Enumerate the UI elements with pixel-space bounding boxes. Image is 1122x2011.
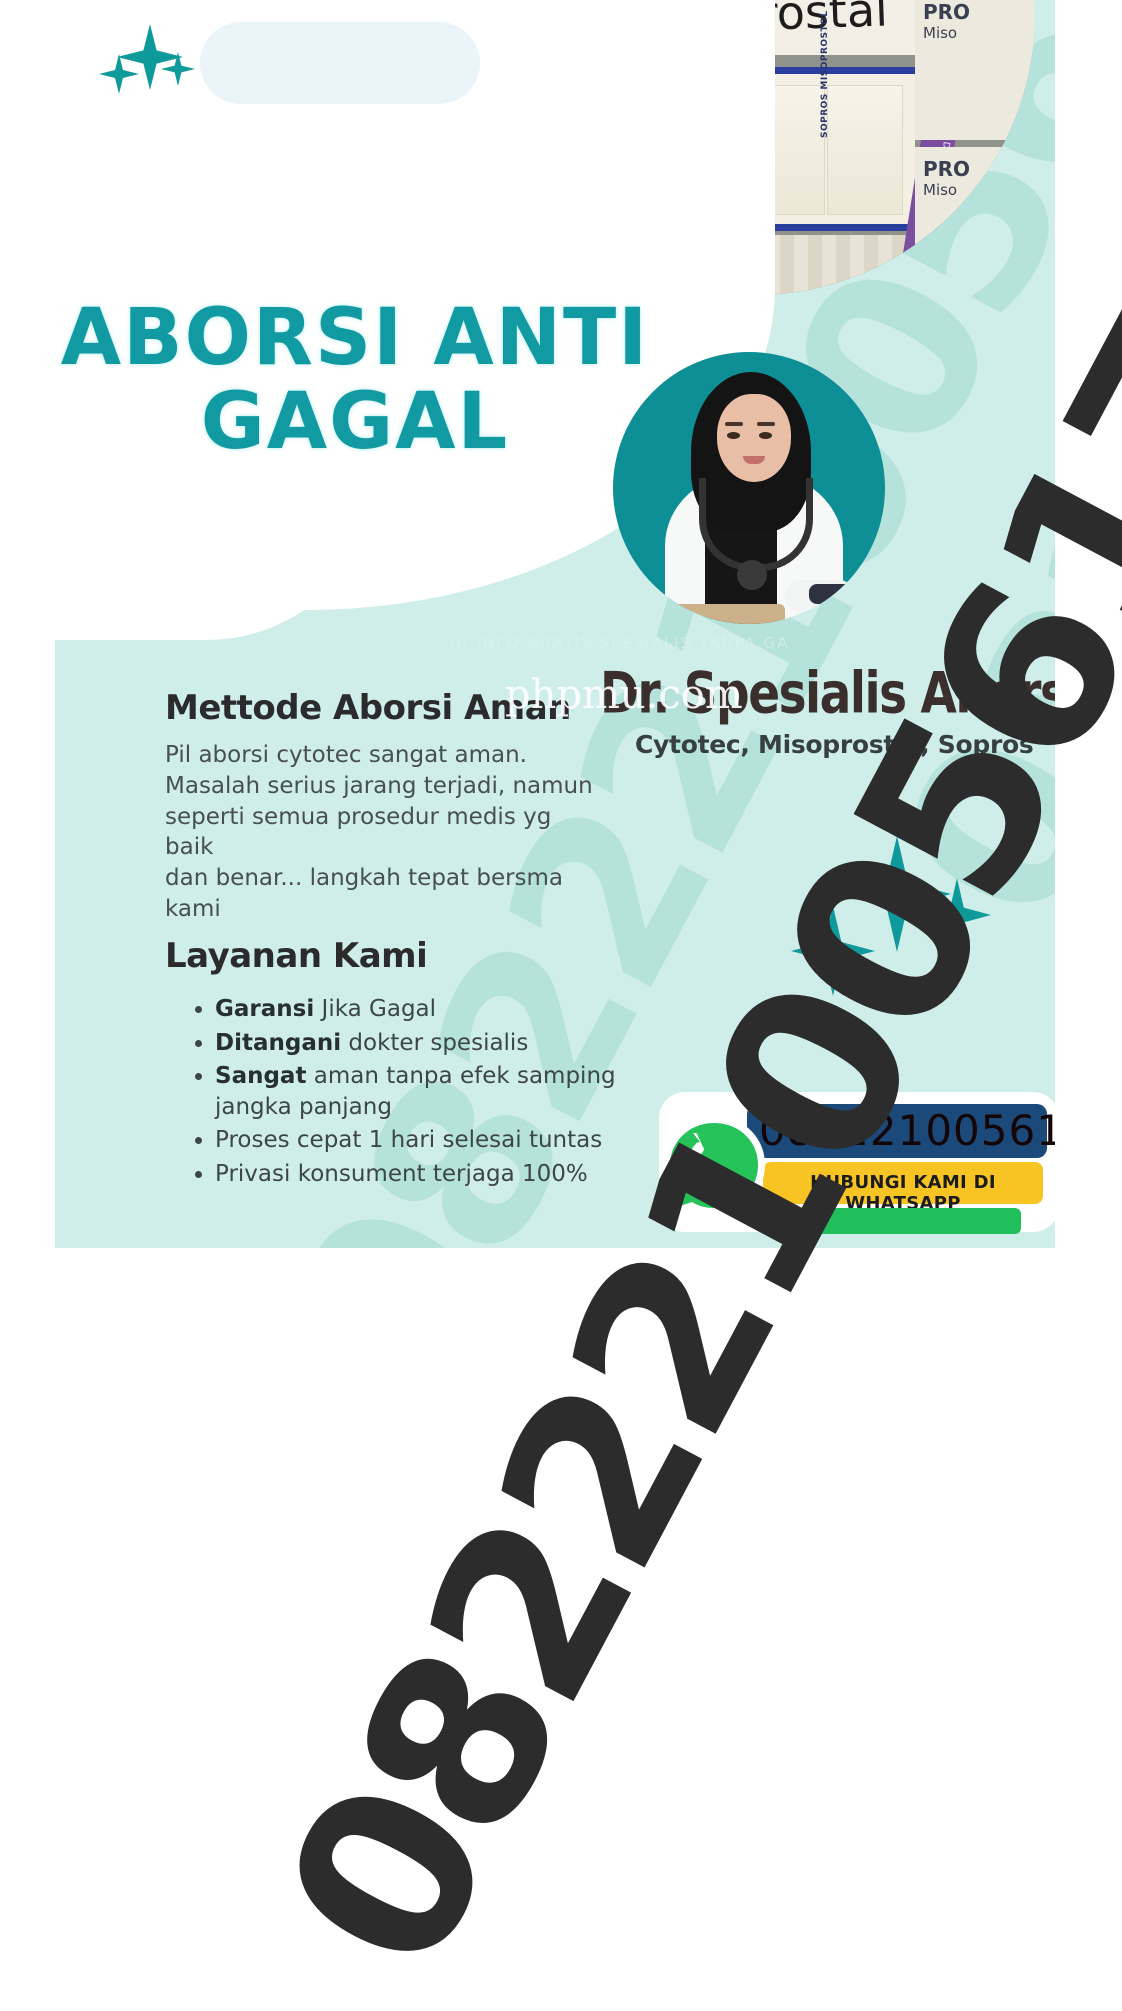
services-title: Layanan Kami [165, 936, 427, 976]
sparkle-icon [791, 906, 875, 996]
doctor-eye [727, 432, 740, 439]
whatsapp-icon[interactable] [659, 1112, 769, 1222]
page-title: ABORSI ANTI GAGAL [55, 300, 655, 461]
list-item: Ditangani dokter spesialis [215, 1028, 655, 1059]
headline-line-2: GAGAL [55, 384, 655, 460]
doctor-avatar [613, 352, 885, 624]
doctor-cuff [809, 584, 855, 604]
item-rest: Privasi konsument terjaga 100% [215, 1161, 588, 1187]
headline-line-1: ABORSI ANTI [61, 293, 649, 383]
doctor-eyebrow [757, 422, 775, 426]
doctor-subtitle: Cytotec, Misoprostol, Sopros [635, 730, 1055, 759]
list-item: Proses cepat 1 hari selesai tuntas [215, 1125, 655, 1156]
poster-canvas: 082221005617 082221005617 Misoprostal SO… [55, 0, 1055, 1248]
sparkle-icon [923, 878, 991, 952]
list-item: Privasi konsument terjaga 100% [215, 1159, 655, 1190]
item-bold: Sangat [215, 1063, 306, 1089]
item-bold: Garansi [215, 996, 314, 1022]
services-list: Garansi Jika Gagal Ditangani dokter spes… [185, 994, 655, 1192]
green-accent-bar [771, 1208, 1021, 1234]
sparkle-icon [843, 836, 951, 952]
method-body: Pil aborsi cytotec sangat aman. Masalah … [165, 740, 605, 925]
method-body-line: dan benar... langkah tepat bersma kami [165, 863, 605, 925]
whatsapp-badge[interactable]: 082221005617 HUBUNGI KAMI DI WHATSAPP [659, 1100, 1055, 1230]
stethoscope-icon [699, 478, 813, 571]
pack-label: SOPROS MISOPROSTOL [820, 64, 830, 138]
doctor-eye [759, 432, 772, 439]
item-rest: Jika Gagal [314, 996, 436, 1022]
stethoscope-bell-icon [737, 560, 767, 590]
method-body-line: seperti semua prosedur medis yg baik [165, 802, 605, 864]
item-bold: Ditangani [215, 1030, 341, 1056]
pale-rounded-rect [200, 22, 480, 104]
item-rest: dokter spesialis [341, 1030, 528, 1056]
watermark-site: phpmu.com [505, 672, 743, 718]
item-rest: Proses cepat 1 hari selesai tuntas [215, 1127, 602, 1153]
brand-text: PRO [923, 0, 1035, 24]
list-item: Sangat aman tanpa efek samping jangka pa… [215, 1061, 655, 1122]
watermark-ghost-line: HI INFO GRATIS SPESIALIS TANPA GAGAL TER… [450, 634, 790, 652]
photo-product-box: PRO Miso [915, 147, 1035, 287]
brand-sub: Miso [923, 181, 1035, 199]
method-body-line: Masalah serius jarang terjadi, namun [165, 771, 605, 802]
doctor-eyebrow [725, 422, 743, 426]
list-item: Garansi Jika Gagal [215, 994, 655, 1025]
doctor-desk [665, 604, 785, 624]
method-body-line: Pil aborsi cytotec sangat aman. [165, 740, 605, 771]
brand-sub: Miso [923, 24, 1035, 42]
phone-number[interactable]: 082221005617 [759, 1106, 1049, 1155]
brand-text: PRO [923, 157, 1035, 181]
photo-product-box: PRO Miso [915, 0, 1035, 140]
